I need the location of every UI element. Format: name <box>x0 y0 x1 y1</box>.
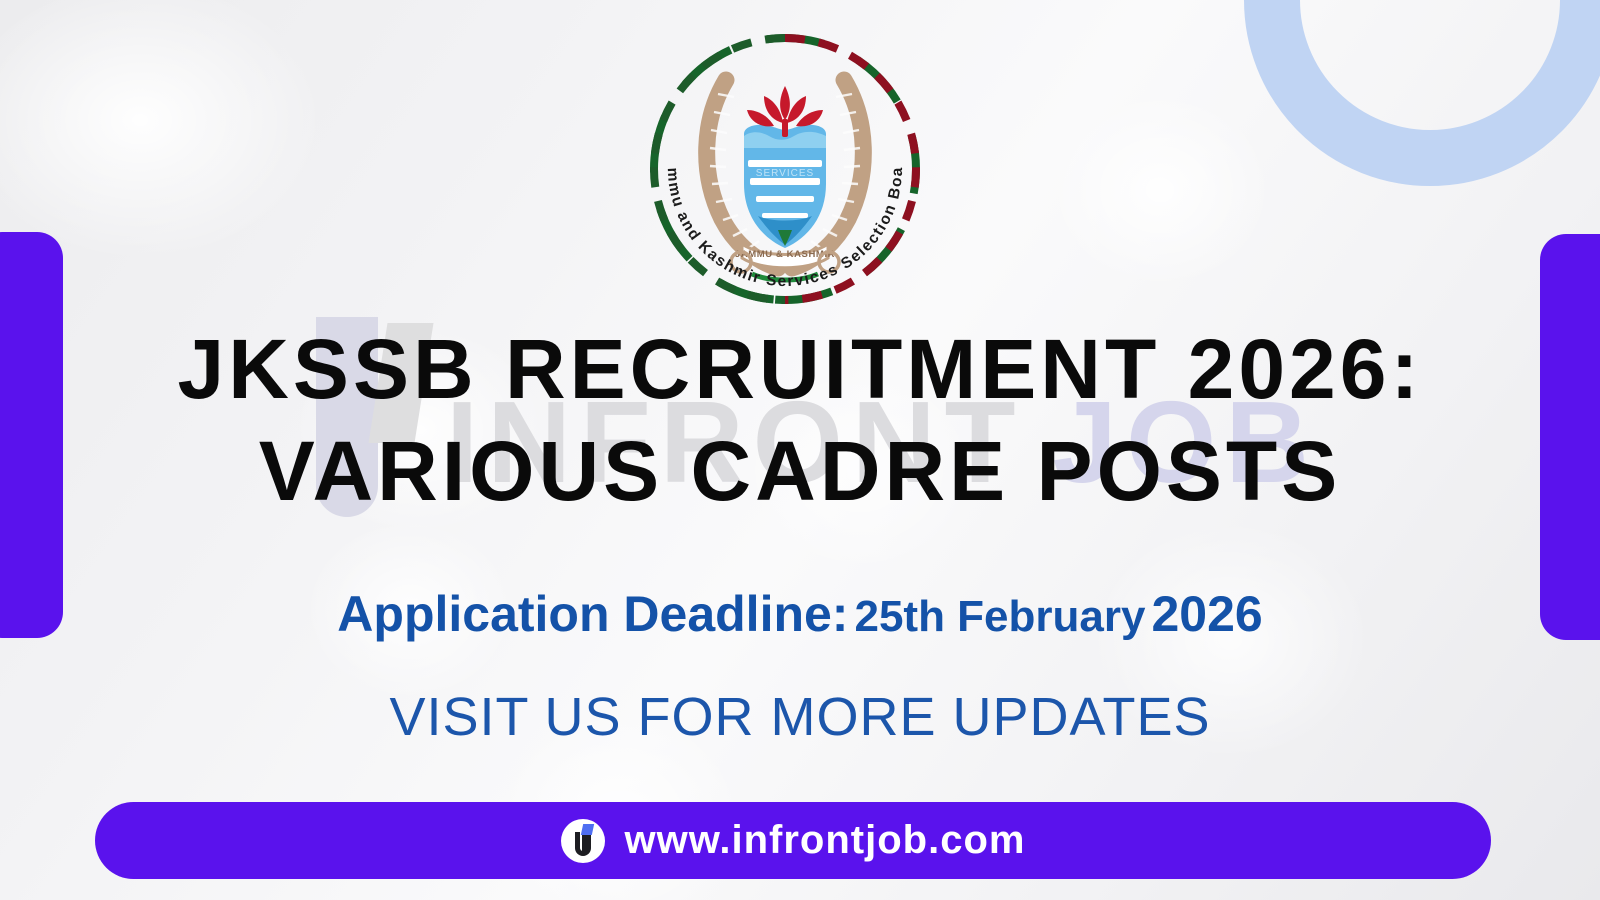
website-url-label: www.infrontjob.com <box>625 818 1026 863</box>
deadline-label: Application Deadline: <box>337 586 848 642</box>
jkssb-emblem-icon: SERVICES JAMMU & KASHMIR <box>640 24 930 314</box>
decorative-ring-icon <box>1244 0 1600 186</box>
visit-us-text: VISIT US FOR MORE UPDATES <box>0 686 1600 748</box>
page-title: JKSSB RECRUITMENT 2026: VARIOUS CADRE PO… <box>0 318 1600 523</box>
deadline-year: 2026 <box>1151 586 1262 642</box>
svg-text:SERVICES: SERVICES <box>756 168 814 179</box>
infrontjob-logo-icon <box>561 819 605 863</box>
application-deadline: Application Deadline:25th February2026 <box>0 585 1600 643</box>
website-url-bar[interactable]: www.infrontjob.com <box>95 802 1491 879</box>
recruitment-banner: INFRONT JOB <box>0 0 1600 900</box>
headline-line-1: JKSSB RECRUITMENT 2026: <box>0 318 1600 420</box>
deadline-date: 25th February <box>854 592 1145 641</box>
headline-line-2: VARIOUS CADRE POSTS <box>0 420 1600 522</box>
